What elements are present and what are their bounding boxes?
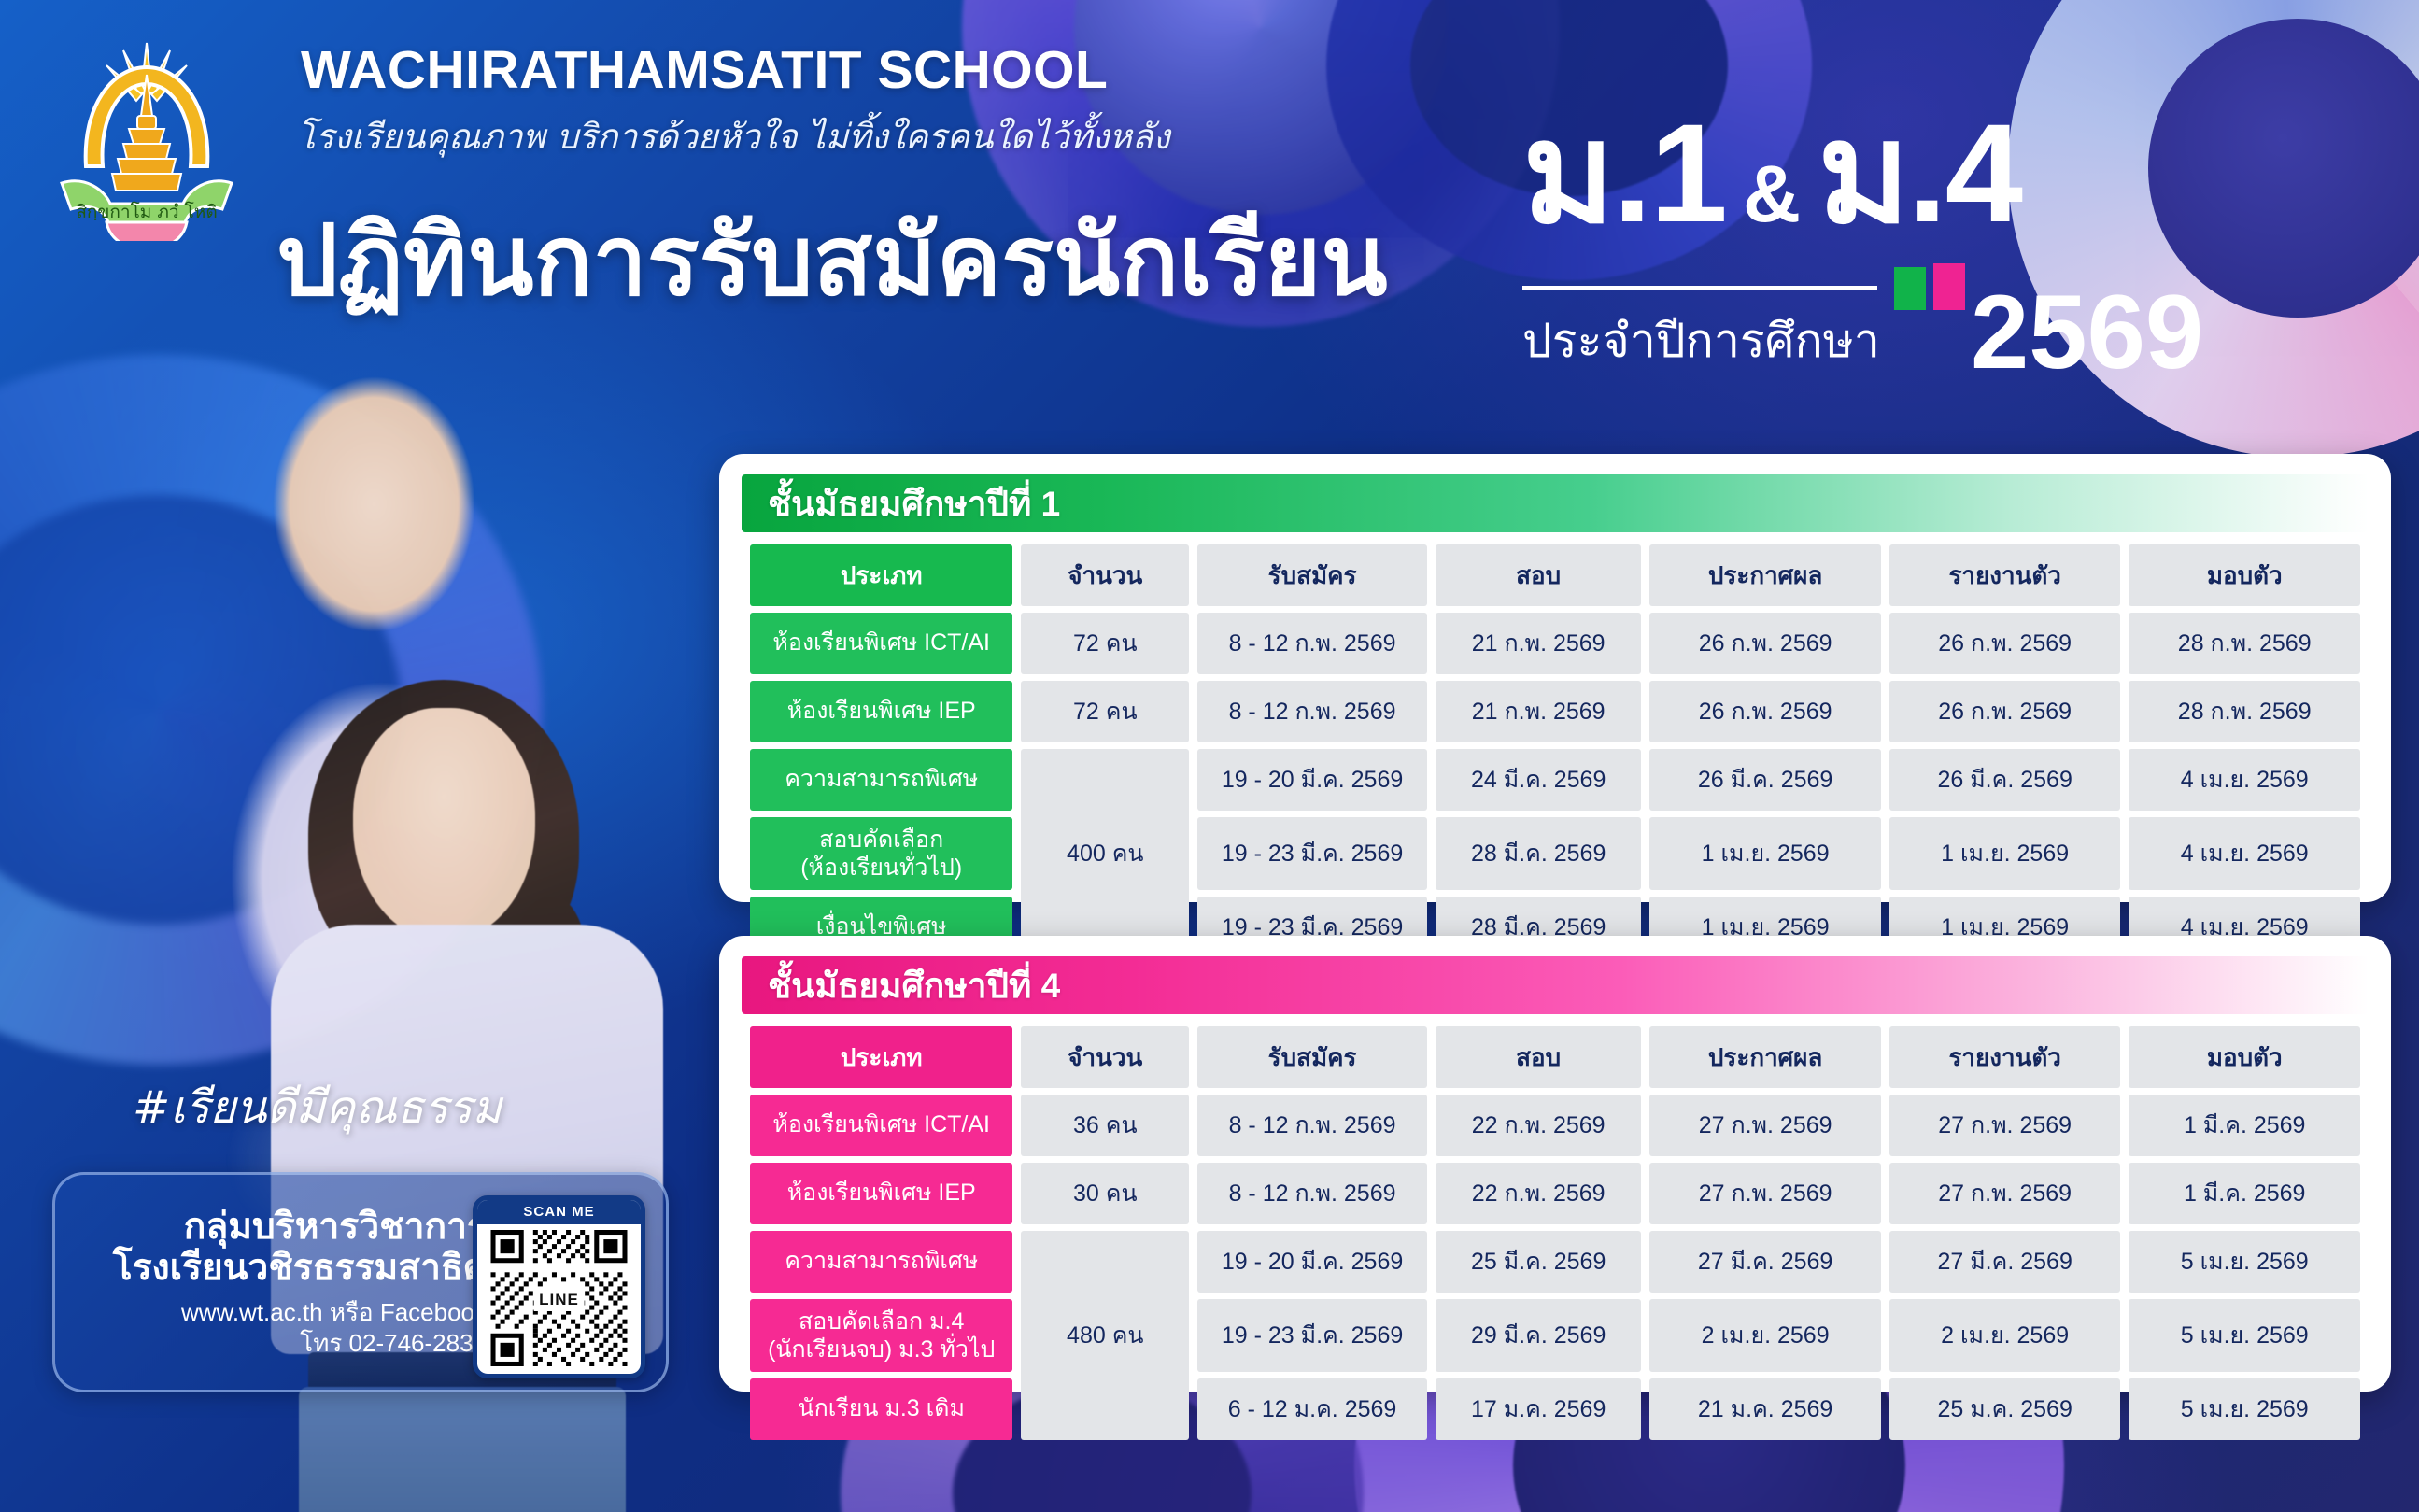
ampersand-label: & xyxy=(1743,154,1801,234)
qr-code-card[interactable]: SCAN ME xyxy=(473,1195,645,1378)
row-result-cell: 27 ก.พ. 2569 xyxy=(1649,1163,1881,1224)
table-row: นักเรียน ม.3 เดิม6 - 12 ม.ค. 256917 ม.ค.… xyxy=(750,1378,2360,1440)
level-badge-row: ม.1 & ม.4 xyxy=(1522,103,2021,243)
academic-year-value: 2569 xyxy=(1971,280,2203,385)
row-result-cell: 2 เม.ย. 2569 xyxy=(1649,1299,1881,1372)
row-apply-cell: 8 - 12 ก.พ. 2569 xyxy=(1197,613,1427,674)
row-amount-cell-merged: 400 คน xyxy=(1021,749,1189,958)
page-title: WACHIRATHAMSATIT SCHOOL xyxy=(301,39,1108,101)
column-header-3: สอบ xyxy=(1436,1026,1641,1088)
green-square-accent xyxy=(1894,267,1926,310)
main-title: ปฏิทินการรับสมัครนักเรียน xyxy=(276,183,1388,337)
row-report-cell: 25 ม.ค. 2569 xyxy=(1889,1378,2121,1440)
row-amount-cell: 72 คน xyxy=(1021,613,1189,674)
band-m1: ชั้นมัธยมศึกษาปีที่ 1 xyxy=(742,474,2369,532)
row-report-cell: 27 ก.พ. 2569 xyxy=(1889,1095,2121,1156)
row-type-cell: ห้องเรียนพิเศษ ICT/AI xyxy=(750,1095,1012,1156)
row-type-cell: ห้องเรียนพิเศษ IEP xyxy=(750,1163,1012,1224)
contact-text: กลุ่มบริหารวิชาการ โรงเรียนวชิรธรรมสาธิต… xyxy=(76,1207,487,1358)
pink-square-accent xyxy=(1933,263,1965,310)
row-exam-cell: 22 ก.พ. 2569 xyxy=(1436,1095,1641,1156)
row-handover-cell: 1 มี.ค. 2569 xyxy=(2129,1163,2360,1224)
column-header-5: รายงานตัว xyxy=(1889,1026,2121,1088)
row-handover-cell: 5 เม.ย. 2569 xyxy=(2129,1231,2360,1293)
table-row: ห้องเรียนพิเศษ ICT/AI72 คน8 - 12 ก.พ. 25… xyxy=(750,613,2360,674)
row-exam-cell: 29 มี.ค. 2569 xyxy=(1436,1299,1641,1372)
contact-box: กลุ่มบริหารวิชาการ โรงเรียนวชิรธรรมสาธิต… xyxy=(52,1172,669,1392)
student-jeans xyxy=(299,1387,626,1512)
calendar-card-m1: ชั้นมัธยมศึกษาปีที่ 1 ประเภทจำนวนรับสมัค… xyxy=(719,454,2391,902)
row-type-cell: นักเรียน ม.3 เดิม xyxy=(750,1378,1012,1440)
row-exam-cell: 21 ก.พ. 2569 xyxy=(1436,681,1641,742)
contact-school: โรงเรียนวชิรธรรมสาธิต xyxy=(76,1248,487,1289)
row-amount-cell: 72 คน xyxy=(1021,681,1189,742)
row-exam-cell: 28 มี.ค. 2569 xyxy=(1436,817,1641,890)
table-header-row-m1: ประเภทจำนวนรับสมัครสอบประกาศผลรายงานตัวม… xyxy=(750,544,2360,606)
contact-phone: โทร 02-746-2833 xyxy=(76,1328,487,1359)
column-header-4: ประกาศผล xyxy=(1649,544,1881,606)
level-2-label: ม.4 xyxy=(1818,103,2021,243)
calendar-table-m1: ประเภทจำนวนรับสมัครสอบประกาศผลรายงานตัวม… xyxy=(742,538,2369,965)
column-header-5: รายงานตัว xyxy=(1889,544,2121,606)
svg-text:สิกฺขกาโม ภวํ โหติ: สิกฺขกาโม ภวํ โหติ xyxy=(76,201,217,222)
table-row: ความสามารถพิเศษ400 คน19 - 20 มี.ค. 25692… xyxy=(750,749,2360,811)
band-title-m4: ชั้นมัธยมศึกษาปีที่ 4 xyxy=(768,958,1060,1013)
column-header-4: ประกาศผล xyxy=(1649,1026,1881,1088)
row-type-cell: ความสามารถพิเศษ xyxy=(750,1231,1012,1293)
row-type-cell: ห้องเรียนพิเศษ ICT/AI xyxy=(750,613,1012,674)
row-exam-cell: 24 มี.ค. 2569 xyxy=(1436,749,1641,811)
row-handover-cell: 4 เม.ย. 2569 xyxy=(2129,817,2360,890)
row-handover-cell: 1 มี.ค. 2569 xyxy=(2129,1095,2360,1156)
hashtag-slogan: #เรียนดีมีคุณธรรม xyxy=(133,1072,502,1143)
column-header-0: ประเภท xyxy=(750,544,1012,606)
student-face xyxy=(353,708,535,941)
row-type-cell: สอบคัดเลือก ม.4(นักเรียนจบ) ม.3 ทั่วไป xyxy=(750,1299,1012,1372)
row-amount-cell: 36 คน xyxy=(1021,1095,1189,1156)
row-handover-cell: 28 ก.พ. 2569 xyxy=(2129,613,2360,674)
table-row: สอบคัดเลือก(ห้องเรียนทั่วไป)19 - 23 มี.ค… xyxy=(750,817,2360,890)
row-handover-cell: 5 เม.ย. 2569 xyxy=(2129,1378,2360,1440)
row-amount-cell-merged: 480 คน xyxy=(1021,1231,1189,1440)
row-report-cell: 27 ก.พ. 2569 xyxy=(1889,1163,2121,1224)
calendar-card-m4: ชั้นมัธยมศึกษาปีที่ 4 ประเภทจำนวนรับสมัค… xyxy=(719,936,2391,1392)
row-report-cell: 27 มี.ค. 2569 xyxy=(1889,1231,2121,1293)
column-header-1: จำนวน xyxy=(1021,1026,1189,1088)
band-title-m1: ชั้นมัธยมศึกษาปีที่ 1 xyxy=(768,476,1060,531)
row-report-cell: 2 เม.ย. 2569 xyxy=(1889,1299,2121,1372)
column-header-3: สอบ xyxy=(1436,544,1641,606)
row-report-cell: 1 เม.ย. 2569 xyxy=(1889,817,2121,890)
row-apply-cell: 19 - 23 มี.ค. 2569 xyxy=(1197,1299,1427,1372)
school-crest-logo: สิกฺขกาโม ภวํ โหติ xyxy=(49,26,245,241)
row-apply-cell: 8 - 12 ก.พ. 2569 xyxy=(1197,681,1427,742)
row-result-cell: 21 ม.ค. 2569 xyxy=(1649,1378,1881,1440)
table-header-row-m4: ประเภทจำนวนรับสมัครสอบประกาศผลรายงานตัวม… xyxy=(750,1026,2360,1088)
row-result-cell: 27 มี.ค. 2569 xyxy=(1649,1231,1881,1293)
table-row: ห้องเรียนพิเศษ IEP30 คน8 - 12 ก.พ. 25692… xyxy=(750,1163,2360,1224)
row-result-cell: 27 ก.พ. 2569 xyxy=(1649,1095,1881,1156)
calendar-table-m4: ประเภทจำนวนรับสมัครสอบประกาศผลรายงานตัวม… xyxy=(742,1020,2369,1447)
table-row: ห้องเรียนพิเศษ IEP72 คน8 - 12 ก.พ. 25692… xyxy=(750,681,2360,742)
row-exam-cell: 21 ก.พ. 2569 xyxy=(1436,613,1641,674)
level-1-label: ม.1 xyxy=(1522,103,1726,243)
table-row: สอบคัดเลือก ม.4(นักเรียนจบ) ม.3 ทั่วไป19… xyxy=(750,1299,2360,1372)
row-type-cell: ห้องเรียนพิเศษ IEP xyxy=(750,681,1012,742)
row-apply-cell: 8 - 12 ก.พ. 2569 xyxy=(1197,1163,1427,1224)
row-amount-cell: 30 คน xyxy=(1021,1163,1189,1224)
column-header-2: รับสมัคร xyxy=(1197,1026,1427,1088)
row-result-cell: 26 ก.พ. 2569 xyxy=(1649,681,1881,742)
divider-rule xyxy=(1522,286,1877,290)
school-motto: โรงเรียนคุณภาพ บริการด้วยหัวใจ ไม่ทิ้งใค… xyxy=(297,109,1170,164)
level-badge: ม.1 & ม.4 ประจำปีการศึกษา 2569 xyxy=(1522,103,2316,411)
table-row: ห้องเรียนพิเศษ ICT/AI36 คน8 - 12 ก.พ. 25… xyxy=(750,1095,2360,1156)
row-report-cell: 26 ก.พ. 2569 xyxy=(1889,681,2121,742)
row-apply-cell: 19 - 20 มี.ค. 2569 xyxy=(1197,1231,1427,1293)
column-header-6: มอบตัว xyxy=(2129,1026,2360,1088)
row-result-cell: 1 เม.ย. 2569 xyxy=(1649,817,1881,890)
row-exam-cell: 22 ก.พ. 2569 xyxy=(1436,1163,1641,1224)
academic-year-label: ประจำปีการศึกษา xyxy=(1522,304,1880,378)
row-handover-cell: 5 เม.ย. 2569 xyxy=(2129,1299,2360,1372)
row-handover-cell: 28 ก.พ. 2569 xyxy=(2129,681,2360,742)
qr-brand-label: LINE xyxy=(533,1289,585,1311)
column-header-2: รับสมัคร xyxy=(1197,544,1427,606)
row-result-cell: 26 ก.พ. 2569 xyxy=(1649,613,1881,674)
column-header-0: ประเภท xyxy=(750,1026,1012,1088)
table-row: ความสามารถพิเศษ480 คน19 - 20 มี.ค. 25692… xyxy=(750,1231,2360,1293)
row-type-cell: ความสามารถพิเศษ xyxy=(750,749,1012,811)
row-handover-cell: 4 เม.ย. 2569 xyxy=(2129,749,2360,811)
row-result-cell: 26 มี.ค. 2569 xyxy=(1649,749,1881,811)
column-header-6: มอบตัว xyxy=(2129,544,2360,606)
row-type-cell: สอบคัดเลือก(ห้องเรียนทั่วไป) xyxy=(750,817,1012,890)
qr-scan-label: SCAN ME xyxy=(477,1200,641,1224)
row-exam-cell: 25 มี.ค. 2569 xyxy=(1436,1231,1641,1293)
row-apply-cell: 19 - 20 มี.ค. 2569 xyxy=(1197,749,1427,811)
row-apply-cell: 8 - 12 ก.พ. 2569 xyxy=(1197,1095,1427,1156)
row-apply-cell: 6 - 12 ม.ค. 2569 xyxy=(1197,1378,1427,1440)
column-header-1: จำนวน xyxy=(1021,544,1189,606)
row-report-cell: 26 ก.พ. 2569 xyxy=(1889,613,2121,674)
row-apply-cell: 19 - 23 มี.ค. 2569 xyxy=(1197,817,1427,890)
row-report-cell: 26 มี.ค. 2569 xyxy=(1889,749,2121,811)
contact-website: www.wt.ac.th หรือ Facebook xyxy=(76,1297,487,1328)
poster-root: สิกฺขกาโม ภวํ โหติ WACHIRATHAMSATIT SCHO… xyxy=(0,0,2419,1512)
band-m4: ชั้นมัธยมศึกษาปีที่ 4 xyxy=(742,956,2369,1014)
contact-department: กลุ่มบริหารวิชาการ xyxy=(76,1207,487,1248)
row-exam-cell: 17 ม.ค. 2569 xyxy=(1436,1378,1641,1440)
